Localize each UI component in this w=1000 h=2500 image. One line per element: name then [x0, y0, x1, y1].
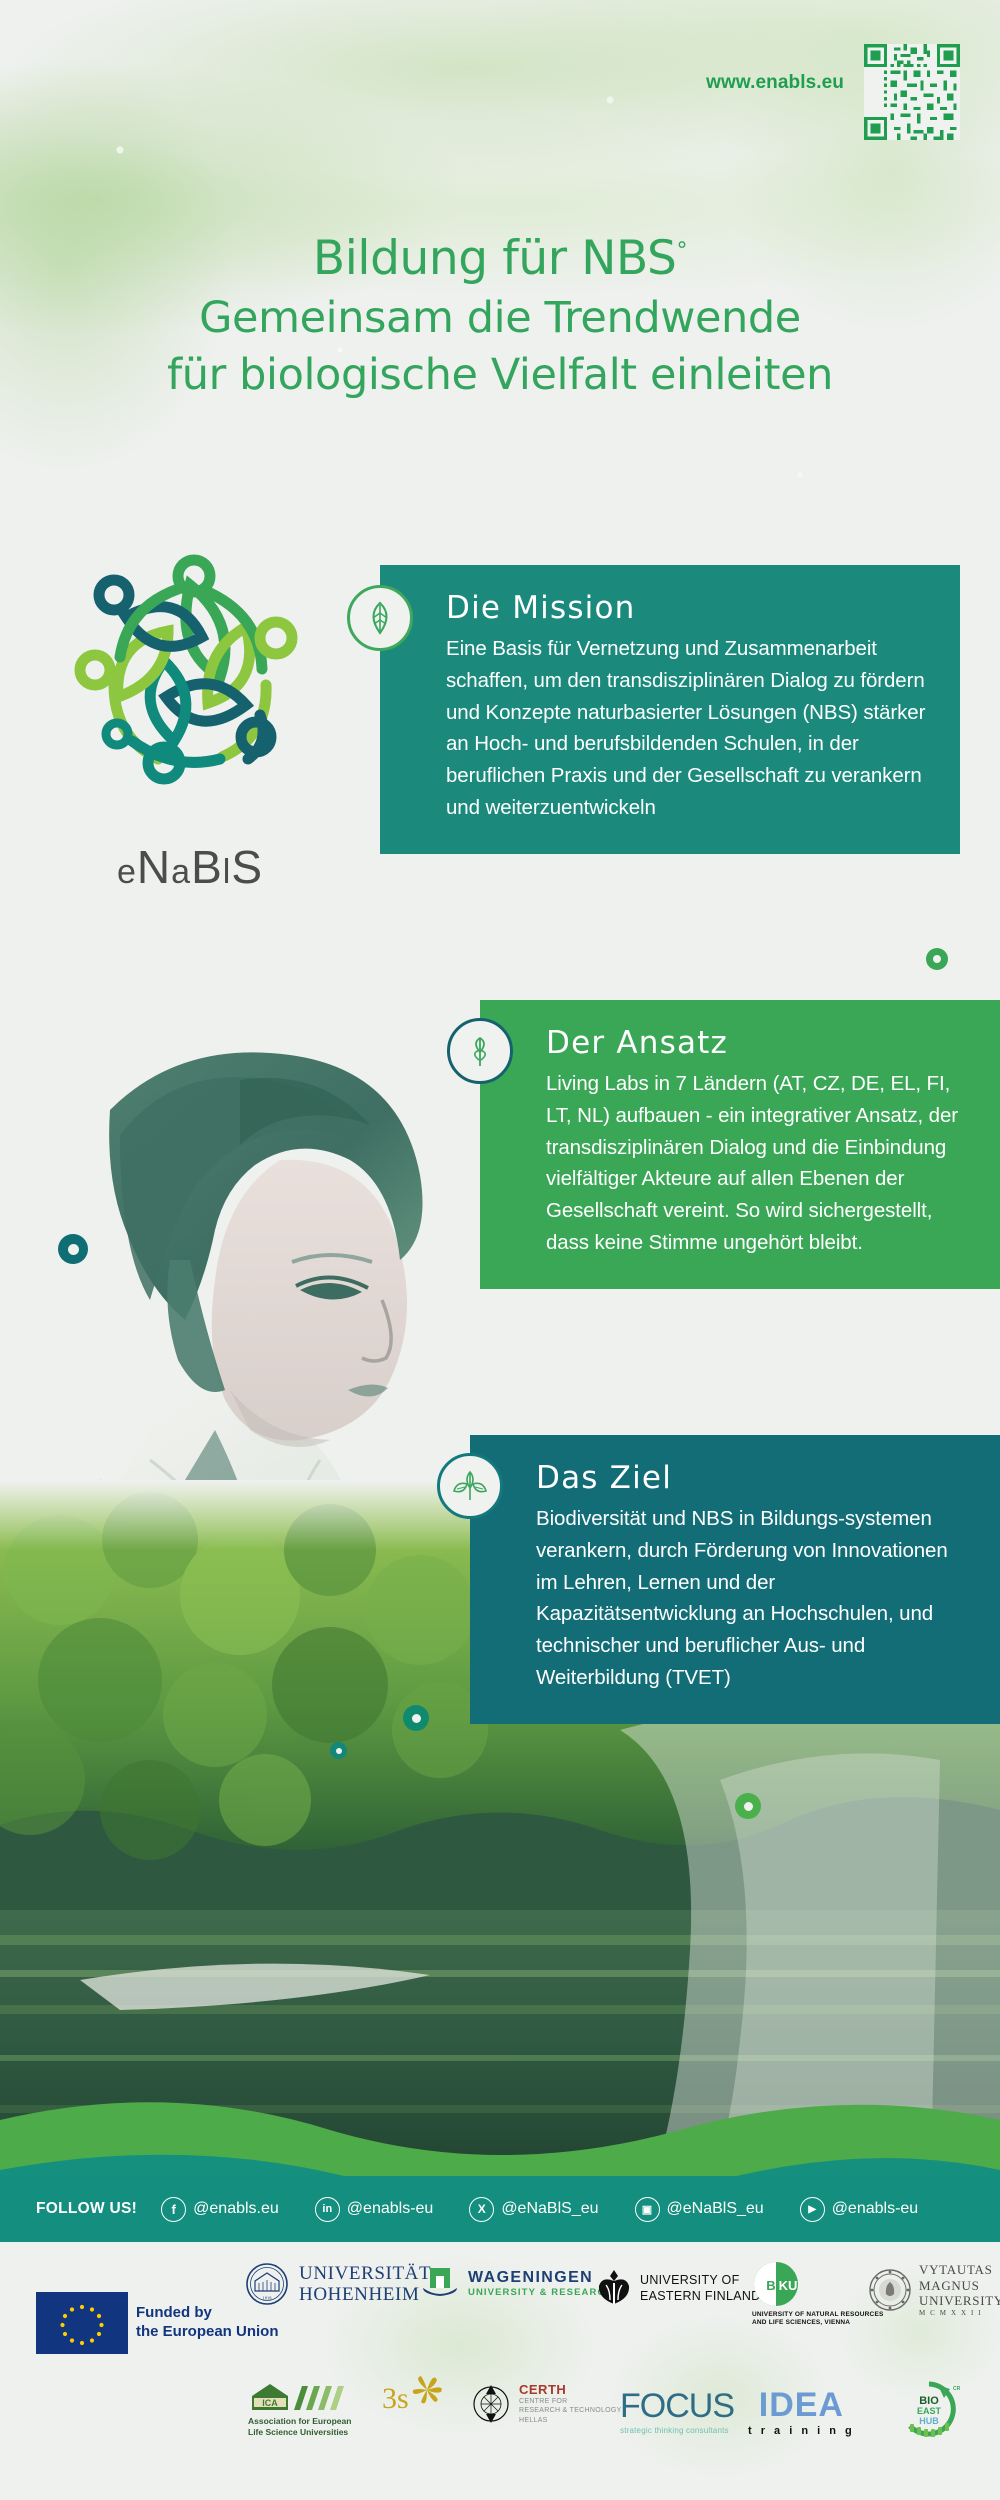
vmu-line-3: UNIVERSITY [919, 2293, 1000, 2309]
card-mission-body: Eine Basis für Vernetzung und Zusammenar… [446, 633, 926, 824]
social-link-instagram[interactable]: ▣ @eNaBlS_eu [635, 2197, 764, 2222]
social-link-linkedin[interactable]: in @enabls-eu [315, 2197, 434, 2222]
partner-logo-uef: UNIVERSITY OF EASTERN FINLAND [596, 2268, 761, 2308]
website-url[interactable]: www.enabls.eu [706, 72, 844, 94]
bioeast-hub-icon: BIO EAST HUB CR [898, 2378, 960, 2440]
headline-line-2: Gemeinsam die Trendwende [0, 290, 1000, 347]
decor-dot-5 [735, 1793, 761, 1819]
decor-dot-3 [403, 1705, 429, 1731]
card-ziel-body: Biodiversität und NBS in Bildungs-system… [536, 1503, 966, 1694]
boku-line-2: UNIVERSITY OF NATURAL RESOURCES [752, 2311, 884, 2319]
wageningen-line-1: WAGENINGEN [468, 2269, 613, 2287]
vmu-line-4: M C M X X I I [919, 2309, 1000, 2317]
svg-text:CR: CR [953, 2386, 960, 2392]
hohenheim-line-1: UNIVERSITÄT [299, 2263, 431, 2284]
enabls-wordmark: eNaBlS [70, 840, 310, 894]
certh-mark-icon [470, 2383, 512, 2425]
svg-text:ICA: ICA [262, 2398, 278, 2408]
partner-logo-ica: ICA Association for European Life Scienc… [248, 2380, 351, 2438]
partner-logo-certh: CERTH CENTRE FOR RESEARCH & TECHNOLOGY H… [470, 2382, 622, 2425]
vmu-text: VYTAUTAS MAGNUS UNIVERSITY M C M X X I I [919, 2262, 1000, 2317]
sprout-icon [447, 1018, 513, 1084]
partner-logo-vmu: VYTAUTAS MAGNUS UNIVERSITY M C M X X I I [868, 2262, 1000, 2317]
partner-logo-hohenheim: 1818 UNIVERSITÄT HOHENHEIM [245, 2262, 431, 2306]
focus-tagline: strategic thinking consultants [620, 2426, 729, 2435]
plant-icon [437, 1453, 503, 1519]
hohenheim-text: UNIVERSITÄT HOHENHEIM [299, 2263, 431, 2306]
idea-tagline: t r a i n i n g [748, 2425, 855, 2437]
facebook-handle: @enabls.eu [193, 2200, 279, 2218]
svg-text:HUB: HUB [919, 2416, 939, 2426]
partner-logo-strip: Funded by the European Union 1818 UNIVER… [0, 2242, 1000, 2500]
wageningen-line-2: UNIVERSITY & RESEARCH [468, 2287, 613, 2298]
partner-logo-focus: FOCUS strategic thinking consultants [620, 2387, 734, 2435]
uef-line-1: UNIVERSITY OF [640, 2272, 761, 2288]
uef-line-2: EASTERN FINLAND [640, 2288, 761, 2304]
partner-logo-wageningen: WAGENINGEN UNIVERSITY & RESEARCH [420, 2266, 613, 2300]
ica-line-3: Life Science Universities [248, 2427, 351, 2438]
x-twitter-icon: X [469, 2197, 494, 2222]
decor-dot-2 [58, 1234, 88, 1264]
qr-code-icon[interactable] [864, 44, 960, 140]
linkedin-handle: @enabls-eu [347, 2200, 434, 2218]
decor-dot-1 [926, 948, 948, 970]
hohenheim-crest-icon: 1818 [245, 2262, 289, 2306]
ica-subtext: Association for European Life Science Un… [248, 2416, 351, 2438]
facebook-icon: f [161, 2197, 186, 2222]
eu-funding-line-2: the European Union [136, 2323, 279, 2342]
wageningen-text: WAGENINGEN UNIVERSITY & RESEARCH [468, 2269, 613, 2298]
card-mission: Die Mission Eine Basis für Vernetzung un… [380, 565, 960, 854]
vmu-line-1: VYTAUTAS [919, 2262, 1000, 2278]
eu-flag-icon [36, 2292, 128, 2354]
eu-funding-line-1: Funded by [136, 2304, 279, 2323]
headline-line-3: für biologische Vielfalt einleiten [0, 347, 1000, 404]
3s-flower-icon [405, 2368, 449, 2412]
card-mission-title: Die Mission [446, 591, 926, 625]
follow-us-label: FOLLOW US! [36, 2200, 137, 2218]
x-handle: @eNaBlS_eu [501, 2200, 598, 2218]
social-link-youtube[interactable]: ▶ @enabls-eu [800, 2197, 919, 2222]
wageningen-mark-icon [420, 2266, 460, 2300]
ica-mark-icon: ICA [248, 2380, 348, 2414]
certh-text: CERTH CENTRE FOR RESEARCH & TECHNOLOGY H… [519, 2382, 622, 2425]
certh-line-1: CERTH [519, 2382, 622, 2397]
youtube-handle: @enabls-eu [832, 2200, 919, 2218]
idea-wordmark: IDEA [759, 2386, 844, 2425]
instagram-icon: ▣ [635, 2197, 660, 2222]
poster-root: www.enabls.eu [0, 0, 1000, 2500]
social-link-x[interactable]: X @eNaBlS_eu [469, 2197, 598, 2222]
eu-funding-logo: Funded by the European Union [36, 2292, 279, 2354]
certh-line-3: RESEARCH & TECHNOLOGY [519, 2406, 622, 2415]
focus-wordmark: FOCUS [620, 2387, 734, 2426]
partner-logo-boku: BO KU UNIVERSITY OF NATURAL RESOURCES AN… [752, 2260, 884, 2327]
certh-line-2: CENTRE FOR [519, 2397, 622, 2406]
decor-dot-4 [330, 1742, 347, 1759]
headline-line-1: Bildung für NBS [313, 231, 677, 286]
leaf-icon [347, 585, 413, 651]
uef-text: UNIVERSITY OF EASTERN FINLAND [640, 2272, 761, 2305]
svg-text:KU: KU [779, 2278, 798, 2293]
enabls-logo-icon [70, 545, 310, 795]
certh-line-4: HELLAS [519, 2416, 622, 2425]
ica-line-2: Association for European [248, 2416, 351, 2427]
vmu-line-2: MAGNUS [919, 2278, 1000, 2294]
svg-text:1818: 1818 [263, 2296, 273, 2301]
follow-us-bar: FOLLOW US! f @enabls.eu in @enabls-eu X … [0, 2176, 1000, 2242]
card-ziel-title: Das Ziel [536, 1461, 966, 1495]
social-link-facebook[interactable]: f @enabls.eu [161, 2197, 279, 2222]
partner-logo-bioeast: BIO EAST HUB CR [898, 2378, 960, 2440]
card-ansatz: Der Ansatz Living Labs in 7 Ländern (AT,… [480, 1000, 1000, 1289]
hohenheim-line-2: HOHENHEIM [299, 2284, 431, 2305]
boku-mark-icon: BO KU [752, 2260, 800, 2308]
card-ansatz-body: Living Labs in 7 Ländern (AT, CZ, DE, EL… [546, 1068, 966, 1259]
boku-subtext: UNIVERSITY OF NATURAL RESOURCES AND LIFE… [752, 2311, 884, 2327]
vmu-seal-icon [868, 2268, 912, 2312]
card-ansatz-title: Der Ansatz [546, 1026, 966, 1060]
degree-symbol: ° [676, 238, 687, 263]
eu-funding-text: Funded by the European Union [136, 2304, 279, 2342]
boku-line-3: AND LIFE SCIENCES, VIENNA [752, 2319, 884, 2327]
page-title: Bildung für NBS° Gemeinsam die Trendwend… [0, 228, 1000, 404]
linkedin-icon: in [315, 2197, 340, 2222]
partner-logo-idea: IDEA t r a i n i n g [748, 2386, 855, 2437]
youtube-icon: ▶ [800, 2197, 825, 2222]
partner-logo-3s: 3s [382, 2382, 449, 2416]
card-ziel: Das Ziel Biodiversität und NBS in Bildun… [470, 1435, 1000, 1724]
instagram-handle: @eNaBlS_eu [667, 2200, 764, 2218]
svg-text:EAST: EAST [917, 2406, 942, 2416]
uef-mark-icon [596, 2268, 632, 2308]
